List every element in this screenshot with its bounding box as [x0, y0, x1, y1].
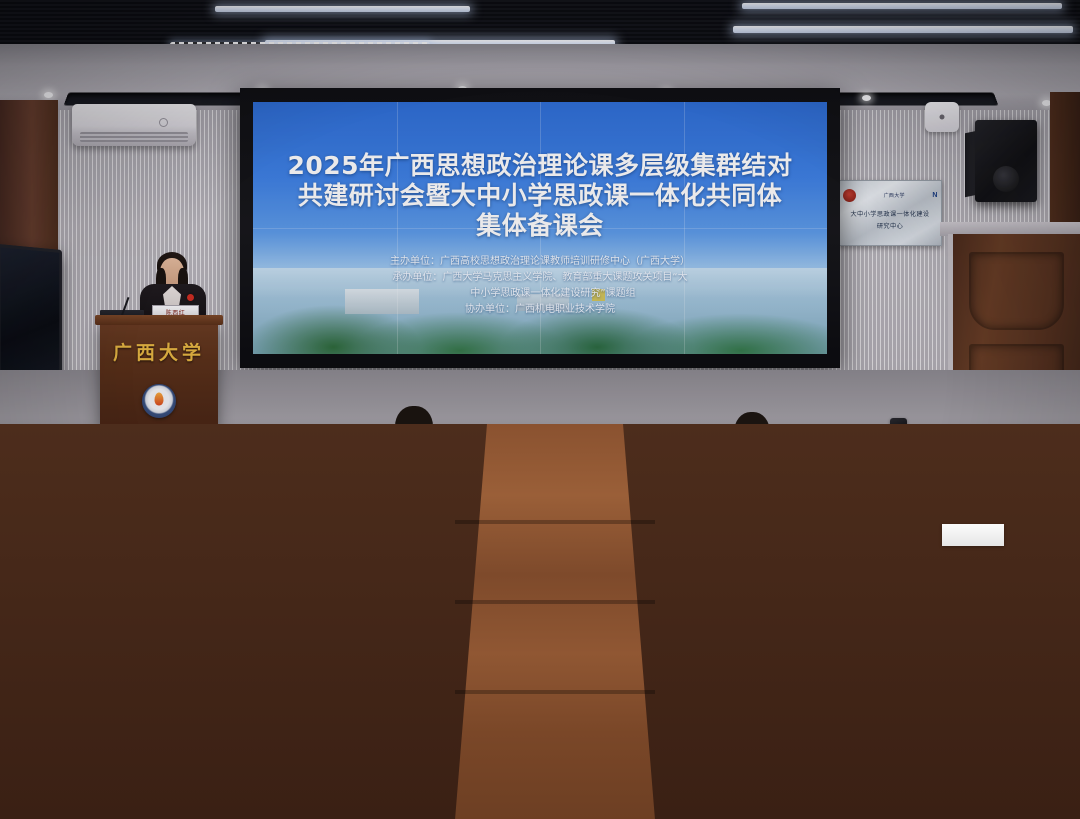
plaque-header: 广西大学 N: [843, 186, 937, 204]
organizer-value: 中小学思政课一体化建设研究”课题组: [470, 288, 635, 299]
speaker-cone-icon: [993, 166, 1019, 192]
ceiling-light-strip: [742, 3, 1062, 9]
wall-plaque: 广西大学 N 大中小学思政课一体化建设 研究中心: [838, 180, 942, 246]
panel-seam: [253, 228, 827, 229]
university-emblem-icon: [843, 189, 856, 202]
flat-panel-monitor[interactable]: [0, 244, 62, 388]
organizer-value: 广西大学马克思主义学院、教育部重大课题攻关项目“大: [442, 272, 687, 283]
organizer-label: 协办单位：: [465, 304, 515, 315]
ac-vent-louvers: [80, 132, 188, 142]
ceiling-downlight: [862, 95, 871, 101]
aisle-step: [455, 520, 655, 524]
ac-display-icon: [159, 118, 168, 127]
plaque-title-line-2: 研究中心: [843, 222, 937, 232]
conference-hall-photo: 广西大学 N 大中小学思政课一体化建设 研究中心 2025年广西思想政治理论课多…: [0, 0, 1080, 819]
guangxi-university-emblem-icon: [142, 384, 176, 418]
plaque-title-line-1: 大中小学思政课一体化建设: [843, 210, 937, 220]
aisle-step: [455, 690, 655, 694]
plaque-secondary-logo: N: [932, 192, 937, 199]
lectern-top-edge: [95, 315, 223, 325]
organizer-value: 广西高校思想政治理论课教师培训研修中心（广西大学）: [440, 256, 690, 267]
air-conditioner: [72, 104, 196, 146]
seat-paper: [942, 524, 1004, 546]
lectern: 广西大学: [100, 322, 218, 426]
loudspeaker: [975, 120, 1037, 202]
aisle-step: [455, 600, 655, 604]
presenter-badge: [187, 294, 194, 301]
plaque-university-name: 广西大学: [884, 192, 905, 199]
ceiling-downlight: [44, 92, 53, 98]
ceiling-light-strip: [733, 26, 1073, 33]
organizer-value: 广西机电职业技术学院: [515, 304, 615, 315]
ceiling-light-strip: [215, 6, 470, 12]
presentation-slide: 2025年广西思想政治理论课多层级集群结对 共建研讨会暨大中小学思政课一体化共同…: [253, 102, 827, 354]
center-aisle: [455, 424, 655, 819]
lectern-institution-name: 广西大学: [100, 338, 218, 365]
wifi-access-point: [925, 102, 959, 132]
door-upper-panel: [969, 252, 1064, 330]
led-video-wall[interactable]: 2025年广西思想政治理论课多层级集群结对 共建研讨会暨大中小学思政课一体化共同…: [240, 88, 840, 368]
organizer-label: 承办单位：: [392, 272, 442, 283]
